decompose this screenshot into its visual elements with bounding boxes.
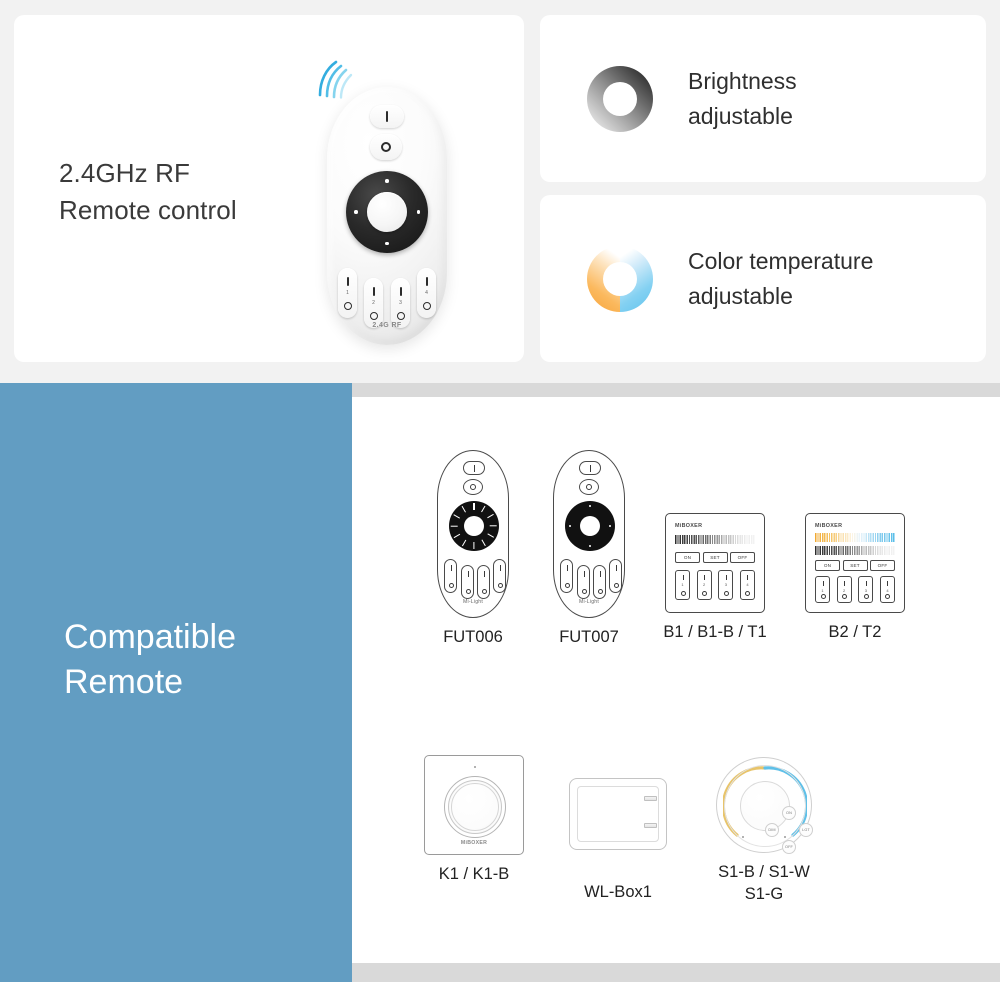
panel-off-button[interactable]: OFF	[730, 552, 755, 563]
wall-panel-dimmer: MiBOXER ON SET OFF 1 2 3 4	[665, 513, 765, 613]
remote-zone-button-2[interactable]: 2	[364, 278, 383, 328]
product-b2-t2[interactable]: MiBOXER ON SET OFF 1 2 3 4 B2 / T2	[790, 513, 920, 643]
knob-dial[interactable]	[451, 783, 499, 831]
brightness-slider-bar[interactable]	[675, 535, 755, 544]
hero-card: 2.4GHz RF Remote control	[14, 15, 524, 362]
panel-zone-button-2[interactable]: 2	[697, 570, 712, 600]
panel-zone-button-1[interactable]: 1	[815, 576, 830, 603]
feature-card-color-temperature: Color temperature adjustable	[540, 195, 986, 362]
remote-zone-button-4[interactable]: 4	[417, 268, 436, 318]
panel-brand-label: MiBOXER	[815, 523, 895, 529]
zone-on-icon	[426, 277, 428, 286]
zone-number: 3	[719, 582, 732, 587]
panel-zone-button-4[interactable]: 4	[740, 570, 755, 600]
box-port-2	[644, 823, 657, 828]
product-fut007[interactable]: Mi-Light FUT007	[536, 450, 642, 648]
panel-zone-button-1[interactable]: 1	[675, 570, 690, 600]
zone-number: 2	[838, 588, 851, 593]
remote-power-on-button[interactable]	[463, 461, 485, 475]
feature-label-color-temperature: Color temperature adjustable	[688, 244, 873, 313]
s1-light-button[interactable]: LGT	[799, 823, 813, 837]
zone-on-icon	[373, 287, 375, 296]
dpad-down-dot-icon	[589, 545, 591, 547]
power-off-icon	[586, 484, 592, 490]
zone-number: 2	[364, 300, 383, 306]
dial-center[interactable]	[580, 516, 600, 536]
s1-off-button[interactable]: OFF	[782, 840, 796, 854]
remote-power-on-button[interactable]	[579, 461, 601, 475]
product-b1-t1[interactable]: MiBOXER ON SET OFF 1 2 3 4 B1 / B1-B / T…	[650, 513, 780, 643]
dial-center[interactable]	[464, 516, 484, 536]
power-off-icon	[470, 484, 476, 490]
compatible-remote-heading: Compatible Remote	[64, 615, 236, 705]
product-s1[interactable]: ON DIM LGT OFF S1-B / S1-W S1-G	[707, 757, 821, 906]
box-face-outline	[577, 786, 659, 842]
feature-label-brightness: Brightness adjustable	[688, 64, 797, 133]
dpad-left-dot-icon	[569, 525, 571, 527]
color-temperature-slider-bar[interactable]	[815, 533, 895, 542]
top-divider-band	[352, 383, 1000, 397]
status-led-icon	[474, 766, 476, 768]
hero-title: 2.4GHz RF Remote control	[59, 155, 237, 229]
outline-remote-fut006: Mi-Light	[437, 450, 509, 618]
zone-number: 3	[859, 588, 872, 593]
remote-zone-button-2[interactable]	[577, 565, 590, 599]
dpad-right-dot-icon	[417, 210, 421, 214]
remote-zone-button-2[interactable]	[461, 565, 474, 599]
power-off-icon	[381, 142, 391, 152]
panel-set-button[interactable]: SET	[843, 560, 868, 571]
power-on-icon	[590, 465, 591, 472]
zone-on-icon	[347, 277, 349, 286]
remote-zone-button-1[interactable]	[444, 559, 457, 593]
zone-off-icon	[344, 302, 352, 310]
remote-zone-button-4[interactable]	[493, 559, 506, 593]
zone-number: 1	[816, 588, 829, 593]
panel-on-button[interactable]: ON	[815, 560, 840, 571]
product-label: WL-Box1	[568, 881, 668, 903]
s1-button-cluster: ON DIM LGT OFF	[740, 781, 790, 831]
dpad-center-button[interactable]	[367, 192, 407, 232]
zone-number: 3	[391, 300, 410, 306]
features-section: 2.4GHz RF Remote control	[0, 0, 1000, 383]
power-on-icon	[386, 111, 388, 122]
panel-zone-button-4[interactable]: 4	[880, 576, 895, 603]
zone-on-icon	[400, 287, 402, 296]
dpad-up-dot-icon	[385, 179, 389, 183]
s1-on-button[interactable]: ON	[782, 806, 796, 820]
product-label: FUT006	[420, 626, 526, 648]
panel-set-button[interactable]: SET	[703, 552, 728, 563]
product-label: S1-B / S1-W S1-G	[707, 861, 821, 906]
rf-remote-illustration: 1 2 3 4 2.4G RF	[327, 87, 447, 345]
zone-off-icon	[423, 302, 431, 310]
brightness-donut-icon	[580, 59, 660, 139]
s1-dim-button[interactable]: DIM	[765, 823, 779, 837]
box-port-1	[644, 796, 657, 801]
rotary-knob-panel: MiBOXER	[424, 755, 524, 855]
product-label: B1 / B1-B / T1	[650, 621, 780, 643]
product-wl-box1[interactable]: WL-Box1	[568, 778, 668, 903]
zone-number: 4	[417, 290, 436, 296]
panel-off-button[interactable]: OFF	[870, 560, 895, 571]
remote-brand-label: Mi-Light	[554, 599, 624, 605]
remote-brand-label: Mi-Light	[438, 599, 508, 605]
zone-number: 1	[676, 582, 689, 587]
panel-zone-button-2[interactable]: 2	[837, 576, 852, 603]
zone-number: 4	[881, 588, 894, 593]
remote-power-off-button[interactable]	[579, 479, 599, 495]
panel-zone-button-3[interactable]: 3	[858, 576, 873, 603]
round-cct-panel: ON DIM LGT OFF	[716, 757, 812, 853]
panel-brand-label: MiBOXER	[675, 523, 755, 529]
product-label: B2 / T2	[790, 621, 920, 643]
remote-zone-button-3[interactable]	[593, 565, 606, 599]
zone-off-icon	[397, 312, 405, 320]
product-label: FUT007	[536, 626, 642, 648]
s1-indicator-dot-right	[784, 836, 786, 838]
remote-zone-button-1[interactable]	[560, 559, 573, 593]
panel-brand-label: MiBOXER	[425, 840, 523, 846]
panel-on-button[interactable]: ON	[675, 552, 700, 563]
product-k1[interactable]: MiBOXER K1 / K1-B	[423, 755, 525, 885]
product-label: K1 / K1-B	[423, 863, 525, 885]
dpad-down-dot-icon	[385, 242, 389, 246]
s1-indicator-dot-left	[742, 836, 744, 838]
remote-zone-button-3[interactable]: 3	[391, 278, 410, 328]
remote-power-off-button[interactable]	[463, 479, 483, 495]
remote-brand-label: 2.4G RF	[327, 322, 447, 329]
remote-zone-button-3[interactable]	[477, 565, 490, 599]
remote-zone-button-4[interactable]	[609, 559, 622, 593]
zone-number: 2	[698, 582, 711, 587]
outline-remote-fut007: Mi-Light	[553, 450, 625, 618]
segmented-dial-ring[interactable]	[449, 501, 499, 551]
panel-zone-button-3[interactable]: 3	[718, 570, 733, 600]
dpad-right-dot-icon	[609, 525, 611, 527]
remote-zone-button-1[interactable]: 1	[338, 268, 357, 318]
rf-signal-waves-icon	[314, 59, 360, 99]
solid-dpad-ring[interactable]	[565, 501, 615, 551]
zone-number: 4	[741, 582, 754, 587]
dpad-left-dot-icon	[354, 210, 358, 214]
feature-card-brightness: Brightness adjustable	[540, 15, 986, 182]
remote-dpad-ring[interactable]	[346, 171, 428, 253]
color-temperature-donut-icon	[580, 239, 660, 319]
remote-power-off-button[interactable]	[370, 134, 402, 160]
zone-off-icon	[370, 312, 378, 320]
wifi-bridge-box	[569, 778, 667, 850]
product-fut006[interactable]: Mi-Light FUT006	[420, 450, 526, 648]
wall-panel-cct: MiBOXER ON SET OFF 1 2 3 4	[805, 513, 905, 613]
remote-power-on-button[interactable]	[370, 105, 404, 128]
brightness-slider-bar[interactable]	[815, 546, 895, 555]
zone-number: 1	[338, 290, 357, 296]
power-on-icon	[474, 465, 475, 472]
bottom-divider-band	[352, 963, 1000, 982]
dpad-up-dot-icon	[589, 505, 591, 507]
